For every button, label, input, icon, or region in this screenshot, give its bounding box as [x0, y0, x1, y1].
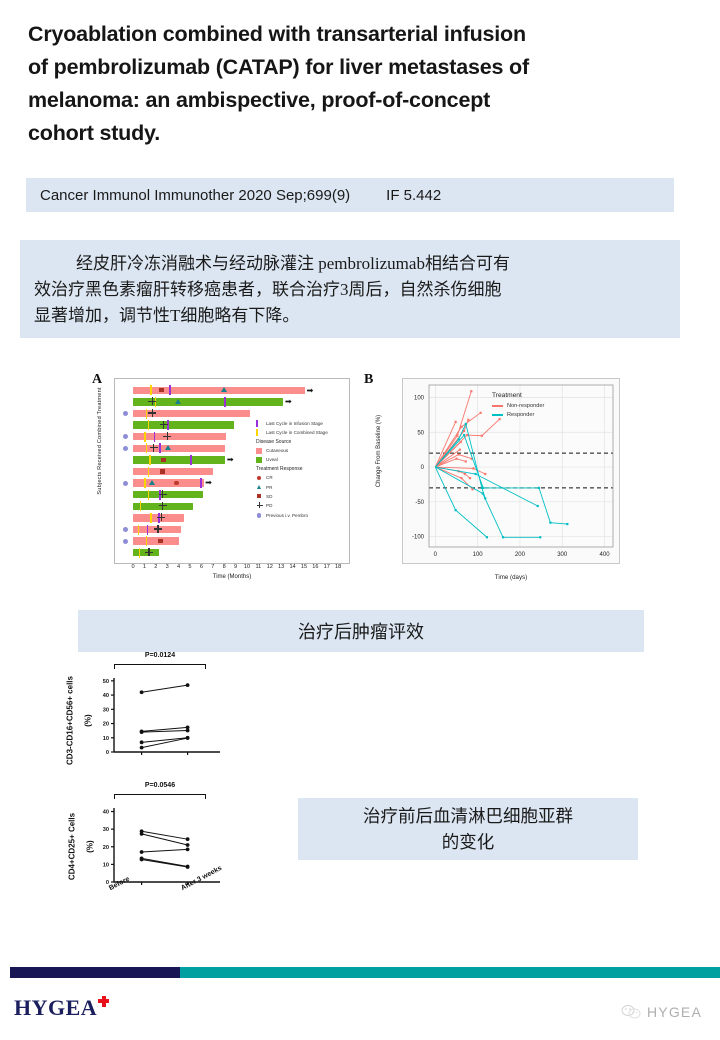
spider-legend: Treatment Non-responder Responder — [492, 392, 544, 421]
swimmer-xtick: 18 — [335, 564, 341, 570]
swimmer-bar — [133, 433, 226, 441]
previous-pembro-dot — [123, 434, 128, 439]
legend-pr: PR — [256, 484, 348, 491]
swimmer-xtick: 13 — [278, 564, 284, 570]
response-pd-marker — [145, 548, 153, 556]
pd-plus-icon — [256, 502, 263, 509]
response-pd-marker — [154, 525, 162, 533]
journal-citation: Cancer Immunol Immunother 2020 Sep;699(9… — [40, 187, 350, 204]
legend-label: SD — [266, 494, 272, 499]
title-line-3: melanoma: an ambispective, proof-of-conc… — [28, 84, 696, 117]
svg-text:200: 200 — [515, 552, 526, 558]
title-line-1: Cryoablation combined with transarterial… — [28, 18, 696, 51]
svg-text:50: 50 — [103, 679, 109, 685]
combined-stage-marker — [148, 420, 150, 430]
legend-label: CR — [266, 475, 273, 480]
footer-bar-teal — [180, 967, 720, 978]
panel-a-ylabel: Subjects Received Combined Treatment — [97, 381, 103, 501]
summary-line-2: 效治疗黑色素瘤肝转移癌患者，联合治疗3周后，自然杀伤细胞 — [34, 277, 666, 303]
svg-text:10: 10 — [103, 736, 109, 742]
legend-label: Last Cycle in Combined Stage — [266, 430, 328, 435]
response-pd-marker — [148, 397, 156, 405]
response-pd-marker — [159, 502, 167, 510]
legend-label: Uveal — [266, 457, 278, 462]
swimmer-xtick: 5 — [188, 564, 191, 570]
svg-text:40: 40 — [103, 693, 109, 699]
previous-pembro-dot — [123, 446, 128, 451]
svg-text:50: 50 — [417, 430, 424, 436]
swimmer-xtick: 17 — [324, 564, 330, 570]
swimmer-xtick: 10 — [244, 564, 250, 570]
response-pd-marker — [160, 421, 168, 429]
combined-stage-marker — [140, 501, 142, 511]
legend-uveal: Uveal — [256, 456, 348, 463]
swimmer-bar — [133, 537, 179, 545]
legend-previous-pembro: Previous i.v. Pembro — [256, 512, 348, 519]
cutaneous-swatch-icon — [256, 448, 263, 454]
swimmer-xtick: 16 — [312, 564, 318, 570]
svg-text:300: 300 — [557, 552, 568, 558]
combined-stage-marker — [139, 548, 141, 558]
legend-sd: SD — [256, 493, 348, 500]
combined-stage-marker — [144, 432, 146, 442]
swimmer-xtick: 2 — [154, 564, 157, 570]
infusion-marker-icon — [256, 420, 263, 427]
response-cr-marker — [174, 481, 178, 485]
previous-pembro-dot — [123, 481, 128, 486]
cr-circle-icon — [256, 476, 263, 480]
caption-lymphocyte-change: 治疗前后血清淋巴细胞亚群 的变化 — [298, 798, 638, 860]
svg-text:100: 100 — [473, 552, 484, 558]
figure-row: A Subjects Received Combined Treatment ➡… — [86, 372, 626, 594]
response-sd-marker — [160, 469, 165, 474]
svg-text:-50: -50 — [415, 500, 424, 506]
swimmer-xtick: 3 — [166, 564, 169, 570]
ongoing-arrow-icon: ➡ — [285, 398, 292, 406]
previous-pembro-dot — [123, 411, 128, 416]
uveal-swatch-icon — [256, 457, 263, 463]
treg-cells-chart: P=0.0546 CD4+CD25+ Cells (%) 010203040 B… — [52, 782, 252, 922]
ongoing-arrow-icon: ➡ — [227, 456, 234, 464]
journal-impact-factor: IF 5.442 — [386, 187, 441, 204]
infusion-stage-marker — [200, 478, 202, 488]
wechat-icon — [621, 1004, 641, 1020]
legend-label: PR — [266, 485, 272, 490]
swimmer-bar — [133, 456, 225, 464]
infusion-stage-marker — [169, 385, 171, 395]
legend-combined-marker: Last Cycle in Combined Stage — [256, 429, 348, 436]
swimmer-xtick: 6 — [200, 564, 203, 570]
swimmer-xtick: 12 — [267, 564, 273, 570]
footer-logo-text: HYGEA — [14, 995, 97, 1021]
swimmer-bar — [133, 491, 203, 499]
legend-non-responder: Non-responder — [492, 403, 544, 409]
previous-pembro-circle-icon — [256, 513, 263, 517]
svg-text:20: 20 — [103, 845, 109, 851]
combined-stage-marker — [146, 536, 148, 546]
swimmer-xaxis: 0123456789101112131415161718 — [114, 564, 350, 574]
combined-stage-marker — [150, 513, 152, 523]
footer-bar-navy — [10, 967, 180, 978]
combined-stage-marker — [146, 443, 148, 453]
swimmer-xtick: 1 — [143, 564, 146, 570]
response-pd-marker — [148, 409, 156, 417]
caption-lymphocyte-line1: 治疗前后血清淋巴细胞亚群 — [363, 803, 573, 829]
infusion-stage-marker — [190, 455, 192, 465]
summary-line-3: 显著增加，调节性T细胞略有下降。 — [34, 303, 666, 329]
nk-plot-svg: 01020304050 — [52, 652, 252, 780]
caption-lymphocyte-line2: 的变化 — [442, 829, 495, 855]
legend-treatment-response-title: Treatment Response — [256, 466, 348, 472]
medical-cross-icon — [98, 996, 109, 1007]
svg-text:-100: -100 — [412, 535, 425, 541]
response-sd-marker — [158, 539, 163, 544]
svg-text:0: 0 — [434, 552, 438, 558]
combined-stage-marker — [144, 478, 146, 488]
swimmer-xtick: 9 — [234, 564, 237, 570]
response-pd-marker — [163, 432, 171, 440]
footer-wechat-badge: HYGEA — [621, 1004, 702, 1020]
panel-b-ylabel: Change From Baseline (%) — [376, 386, 382, 516]
svg-text:30: 30 — [103, 707, 109, 713]
legend-label: PD — [266, 503, 272, 508]
swimmer-bar — [133, 468, 213, 476]
infusion-stage-marker — [154, 432, 156, 442]
response-pd-marker — [150, 444, 158, 452]
infusion-stage-marker — [147, 525, 149, 535]
response-pr-marker — [165, 445, 171, 450]
combined-stage-marker — [146, 409, 148, 419]
response-pd-marker — [159, 490, 167, 498]
non-responder-line-icon — [492, 405, 503, 407]
legend-cr: CR — [256, 474, 348, 481]
combined-marker-icon — [256, 429, 263, 436]
swimmer-xtick: 4 — [177, 564, 180, 570]
svg-text:10: 10 — [103, 862, 109, 868]
responder-line-icon — [492, 414, 503, 416]
caption-tumor-response: 治疗后肿瘤评效 — [78, 610, 644, 652]
title-line-4: cohort study. — [28, 117, 696, 150]
svg-text:30: 30 — [103, 827, 109, 833]
swimmer-xtick: 11 — [255, 564, 261, 570]
swimmer-xtick: 15 — [301, 564, 307, 570]
legend-treatment-title: Treatment — [492, 392, 544, 399]
nk-cells-chart: P=0.0124 CD3-CD16+CD56+ cells (%) 010203… — [52, 652, 252, 780]
summary-line-1: 经皮肝冷冻消融术与经动脉灌注 pembrolizumab相结合可有 — [34, 251, 666, 277]
response-pd-marker — [157, 513, 165, 521]
legend-label: Cutaneous — [266, 448, 288, 453]
svg-text:0: 0 — [421, 465, 425, 471]
svg-text:0: 0 — [106, 750, 109, 756]
panel-b-letter: B — [364, 372, 373, 388]
combined-stage-marker — [148, 467, 150, 477]
caption-tumor-response-text: 治疗后肿瘤评效 — [298, 618, 424, 644]
figure-panel-a: A Subjects Received Combined Treatment ➡… — [86, 372, 354, 594]
footer-logo: HYGEA — [14, 995, 109, 1021]
svg-text:400: 400 — [600, 552, 611, 558]
legend-cutaneous: Cutaneous — [256, 447, 348, 454]
spider-xlabel: Time (days) — [402, 574, 620, 581]
legend-label: Non-responder — [507, 403, 544, 409]
legend-label: Last Cycle in Infusion Stage — [266, 421, 323, 426]
swimmer-xtick: 8 — [223, 564, 226, 570]
legend-responder: Responder — [492, 412, 544, 418]
legend-infusion-marker: Last Cycle in Infusion Stage — [256, 420, 348, 427]
ongoing-arrow-icon: ➡ — [307, 387, 314, 395]
footer-wechat-text: HYGEA — [647, 1004, 702, 1020]
swimmer-xtick: 7 — [211, 564, 214, 570]
legend-disease-source-title: Disease Source — [256, 439, 348, 445]
summary-box: 经皮肝冷冻消融术与经动脉灌注 pembrolizumab相结合可有 效治疗黑色素… — [20, 240, 680, 338]
swimmer-xlabel: Time (Months) — [114, 574, 350, 580]
ongoing-arrow-icon: ➡ — [205, 479, 212, 487]
response-sd-marker — [159, 388, 164, 393]
swimmer-legend: Last Cycle in Infusion Stage Last Cycle … — [256, 420, 348, 521]
sd-square-icon — [256, 494, 263, 498]
treg-plot-svg: 010203040 — [52, 782, 252, 922]
journal-info-bar: Cancer Immunol Immunother 2020 Sep;699(9… — [26, 178, 674, 212]
previous-pembro-dot — [123, 539, 128, 544]
infusion-stage-marker — [159, 443, 161, 453]
legend-pd: PD — [256, 502, 348, 509]
page-title: Cryoablation combined with transarterial… — [28, 18, 696, 150]
svg-text:40: 40 — [103, 810, 109, 816]
response-pr-marker — [175, 399, 181, 404]
combined-stage-marker — [150, 385, 152, 395]
response-pr-marker — [149, 480, 155, 485]
combined-stage-marker — [149, 455, 151, 465]
legend-label: Previous i.v. Pembro — [266, 513, 308, 518]
figure-panel-b: B Change From Baseline (%) -100-50050100… — [358, 372, 626, 594]
previous-pembro-dot — [123, 527, 128, 532]
infusion-stage-marker — [224, 397, 226, 407]
title-line-2: of pembrolizumab (CATAP) for liver metas… — [28, 51, 696, 84]
svg-text:100: 100 — [414, 396, 425, 402]
combined-stage-marker — [138, 525, 140, 535]
legend-label: Responder — [507, 412, 534, 418]
response-sd-marker — [161, 458, 166, 463]
pr-triangle-icon — [256, 485, 263, 489]
svg-text:20: 20 — [103, 722, 109, 728]
combined-stage-marker — [148, 490, 150, 500]
swimmer-xtick: 14 — [289, 564, 295, 570]
response-pr-marker — [221, 387, 227, 392]
swimmer-xtick: 0 — [131, 564, 134, 570]
